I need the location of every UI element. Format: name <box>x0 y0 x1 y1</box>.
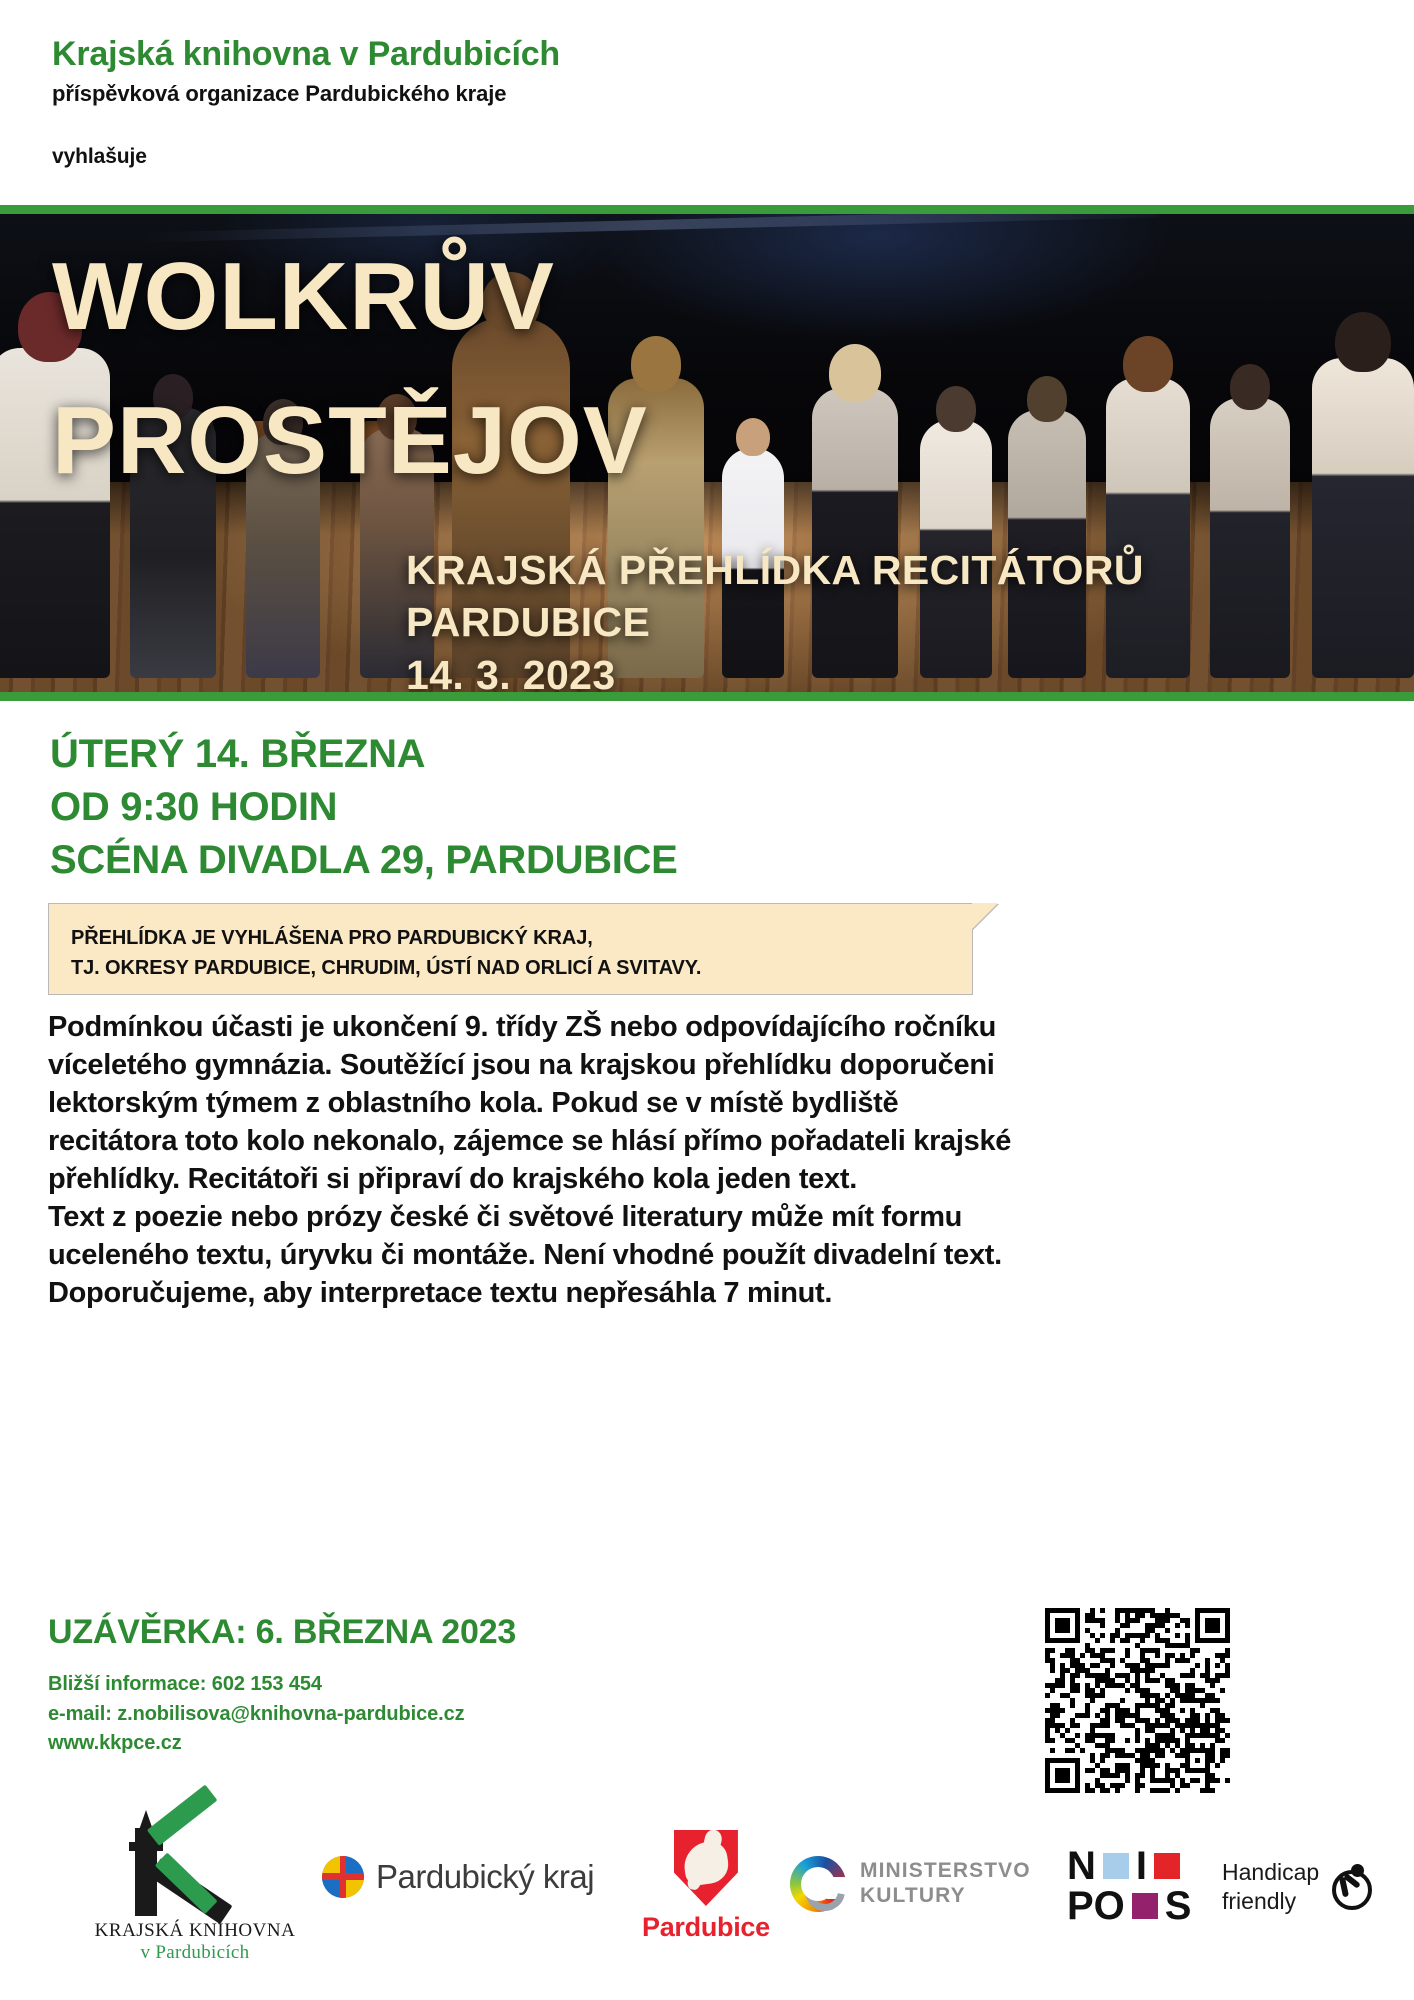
pardubicky-kraj-logo: Pardubický kraj <box>322 1856 594 1898</box>
hero-title-line2: PROSTĚJOV <box>52 394 648 488</box>
ministry-ring-icon <box>790 1856 846 1912</box>
rules-line: lektorským týmem z oblastního kola. Poku… <box>48 1085 1378 1123</box>
region-callout-box: PŘEHLÍDKA JE VYHLÁŠENA PRO PARDUBICKÝ KR… <box>48 903 973 995</box>
rules-line: Podmínkou účasti je ukončení 9. třídy ZŠ… <box>48 1009 1378 1047</box>
handicap-friendly-logo: Handicap friendly <box>1222 1858 1371 1916</box>
wheelchair-wheel <box>1332 1870 1372 1910</box>
performer-head <box>1335 312 1391 372</box>
rules-line: víceletého gymnázia. Soutěžící jsou na k… <box>48 1047 1378 1085</box>
nipos-letter-s: S <box>1165 1886 1192 1926</box>
ministry-line1: MINISTERSTVO <box>860 1859 1031 1884</box>
performer-head <box>736 418 770 456</box>
city-shield-icon <box>674 1830 738 1906</box>
performer-head <box>1027 376 1067 422</box>
rules-line: uceleného textu, úryvku či montáže. Není… <box>48 1237 1378 1275</box>
white-horse-icon <box>681 1839 730 1887</box>
callout-line1: PŘEHLÍDKA JE VYHLÁŠENA PRO PARDUBICKÝ KR… <box>71 923 972 953</box>
nipos-letter-i: I <box>1136 1846 1147 1886</box>
wheelchair-icon <box>1329 1864 1371 1910</box>
folded-corner <box>972 903 998 929</box>
rules-line: Doporučujeme, aby interpretace textu nep… <box>48 1275 1378 1313</box>
ring-inner-c <box>797 1863 853 1919</box>
poster-header: Krajská knihovna v Pardubicích příspěvko… <box>52 36 1152 168</box>
organization-title: Krajská knihovna v Pardubicích <box>52 36 1152 73</box>
nipos-letter-n: N <box>1067 1846 1096 1886</box>
contact-email[interactable]: e-mail: z.nobilisova@knihovna-pardubice.… <box>48 1700 465 1730</box>
event-time: OD 9:30 HODIN <box>50 781 678 834</box>
nipos-red-square <box>1154 1853 1180 1879</box>
organization-subtitle: příspěvková organizace Pardubického kraj… <box>52 82 1152 106</box>
k-upper-arm <box>147 1785 218 1846</box>
ministry-line2: KULTURY <box>860 1884 1031 1909</box>
pardubice-city-logo: Pardubice <box>642 1830 770 1943</box>
deadline-label: UZÁVĚRKA: 6. BŘEZNA 2023 <box>48 1613 516 1652</box>
event-venue: SCÉNA DIVADLA 29, PARDUBICE <box>50 834 678 887</box>
nipos-blue-square <box>1103 1853 1129 1879</box>
rules-line: recitátora toto kolo nekonalo, zájemce s… <box>48 1123 1378 1161</box>
rules-line: Text z poezie nebo prózy české či světov… <box>48 1199 1378 1237</box>
performer-head <box>1123 336 1173 392</box>
krajska-knihovna-logo: KRAJSKÁ KNIHOVNA v Pardubicích <box>90 1820 300 1964</box>
event-details: ÚTERÝ 14. BŘEZNA OD 9:30 HODIN SCÉNA DIV… <box>50 728 678 886</box>
handicap-line2: friendly <box>1222 1887 1319 1916</box>
rules-text: Podmínkou účasti je ukončení 9. třídy ZŠ… <box>48 1009 1378 1313</box>
callout-line2: TJ. OKRESY PARDUBICE, CHRUDIM, ÚSTÍ NAD … <box>71 953 972 983</box>
hero-title-line1: WOLKRŮV <box>52 243 555 350</box>
nipos-logo: N I PO S <box>1067 1846 1191 1926</box>
lighting-rig <box>141 214 1159 242</box>
poster-root: Krajská knihovna v Pardubicích příspěvko… <box>0 0 1414 2000</box>
library-logo-line1: KRAJSKÁ KNIHOVNA <box>90 1920 300 1942</box>
footer-logos: KRAJSKÁ KNIHOVNA v Pardubicích Pardubick… <box>0 1820 1414 2000</box>
pardubice-label: Pardubice <box>642 1912 770 1943</box>
handicap-friendly-label: Handicap friendly <box>1222 1858 1319 1916</box>
hero-subtitle-line1: KRAJSKÁ PŘEHLÍDKA RECITÁTORŮ <box>406 544 1144 596</box>
announce-label: vyhlašuje <box>52 145 1152 168</box>
qr-code[interactable] <box>1045 1608 1230 1793</box>
ministry-label: MINISTERSTVO KULTURY <box>860 1859 1031 1909</box>
contact-web[interactable]: www.kkpce.cz <box>48 1729 465 1759</box>
nipos-letters-po: PO <box>1067 1886 1125 1926</box>
cross-horizontal <box>322 1873 364 1880</box>
hero-subtitle-line3: 14. 3. 2023 <box>406 649 1144 701</box>
nipos-purple-square <box>1132 1893 1158 1919</box>
hero-subtitle: KRAJSKÁ PŘEHLÍDKA RECITÁTORŮ PARDUBICE 1… <box>406 544 1144 701</box>
performer <box>1210 398 1290 678</box>
kraj-emblem-icon <box>322 1856 364 1898</box>
nipos-row-2: PO S <box>1067 1886 1191 1926</box>
contact-info: Bližší informace: 602 153 454 e-mail: z.… <box>48 1670 465 1759</box>
contact-phone: Bližší informace: 602 153 454 <box>48 1670 465 1700</box>
hero-banner: WOLKRŮV PROSTĚJOV KRAJSKÁ PŘEHLÍDKA RECI… <box>0 205 1414 701</box>
performer-head <box>829 344 881 402</box>
library-tower-k-icon <box>125 1820 265 1916</box>
library-logo-line2: v Pardubicích <box>90 1942 300 1964</box>
hero-title: WOLKRŮV PROSTĚJOV <box>52 250 648 488</box>
pardubicky-kraj-label: Pardubický kraj <box>376 1858 594 1896</box>
handicap-line1: Handicap <box>1222 1858 1319 1887</box>
nipos-row-1: N I <box>1067 1846 1191 1886</box>
performer-head <box>936 386 976 432</box>
performer <box>1312 358 1414 678</box>
event-day: ÚTERÝ 14. BŘEZNA <box>50 728 678 781</box>
rules-line: přehlídky. Recitátoři si připraví do kra… <box>48 1161 1378 1199</box>
ministerstvo-kultury-logo: MINISTERSTVO KULTURY <box>790 1856 1031 1912</box>
hero-subtitle-line2: PARDUBICE <box>406 596 1144 648</box>
performer-head <box>1230 364 1270 410</box>
